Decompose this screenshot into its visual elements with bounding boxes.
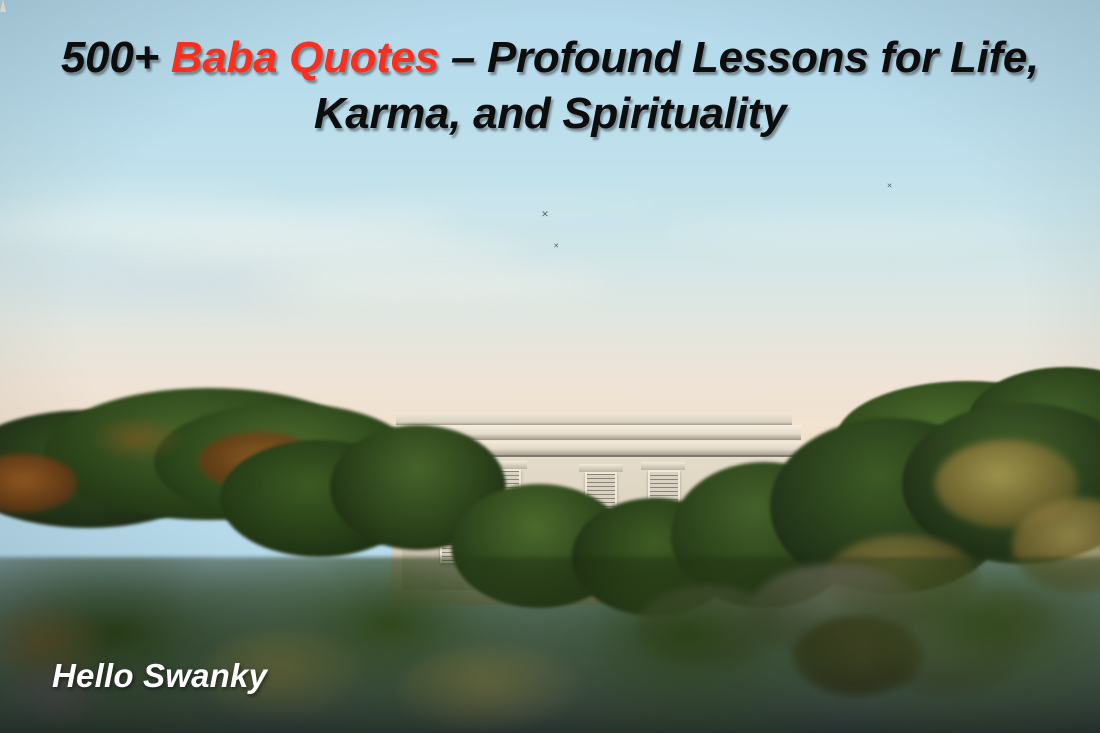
temple-cornice-mid — [387, 425, 801, 440]
temple-cornice-upper — [396, 413, 792, 426]
temple-window — [648, 470, 680, 507]
temple-window — [590, 532, 622, 563]
temple-window — [682, 532, 714, 563]
banner-image: ✕ ✕ ✕ — [0, 0, 1100, 733]
temple-window — [435, 471, 467, 508]
headline-highlight: Baba Quotes — [171, 33, 439, 82]
temple-cornice-lower — [383, 441, 805, 456]
banner-headline: 500+ Baba Quotes – Profound Lessons for … — [0, 30, 1100, 143]
headline-part1: 500+ — [61, 33, 171, 82]
temple-window — [490, 469, 522, 506]
temple-window — [585, 472, 617, 509]
temple-window — [440, 532, 472, 563]
watermark-logo: Hello Swanky — [52, 657, 267, 695]
temple-window — [739, 472, 771, 509]
